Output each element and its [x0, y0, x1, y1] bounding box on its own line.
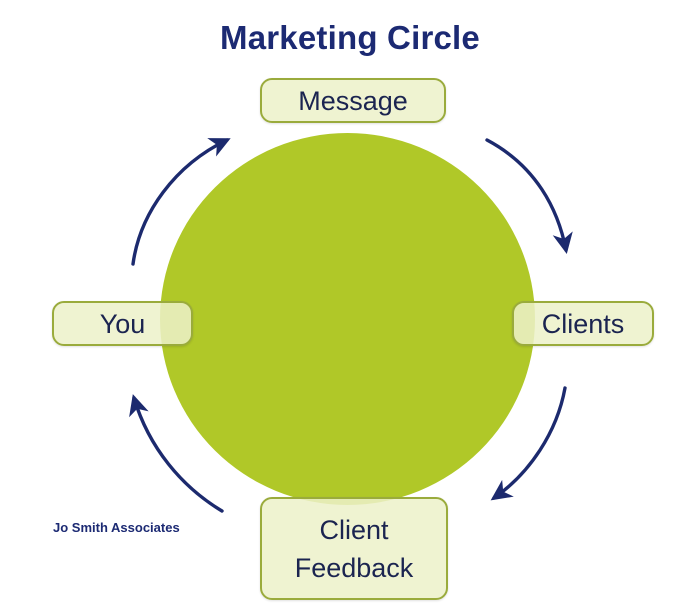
page-title: Marketing Circle: [0, 18, 700, 58]
diagram-canvas: Marketing Circle Message Clients Client …: [0, 0, 700, 615]
node-clients[interactable]: Clients: [512, 301, 654, 346]
node-message-label: Message: [298, 85, 408, 117]
footer-credit: Jo Smith Associates: [53, 520, 180, 535]
node-you[interactable]: You: [52, 301, 193, 346]
node-client-feedback-label-line1: Client: [319, 511, 388, 549]
node-you-label: You: [100, 308, 146, 340]
node-client-feedback-label-line2: Feedback: [295, 549, 414, 587]
node-clients-label: Clients: [542, 308, 625, 340]
center-circle: [160, 133, 535, 505]
node-client-feedback[interactable]: Client Feedback: [260, 497, 448, 600]
node-message[interactable]: Message: [260, 78, 446, 123]
